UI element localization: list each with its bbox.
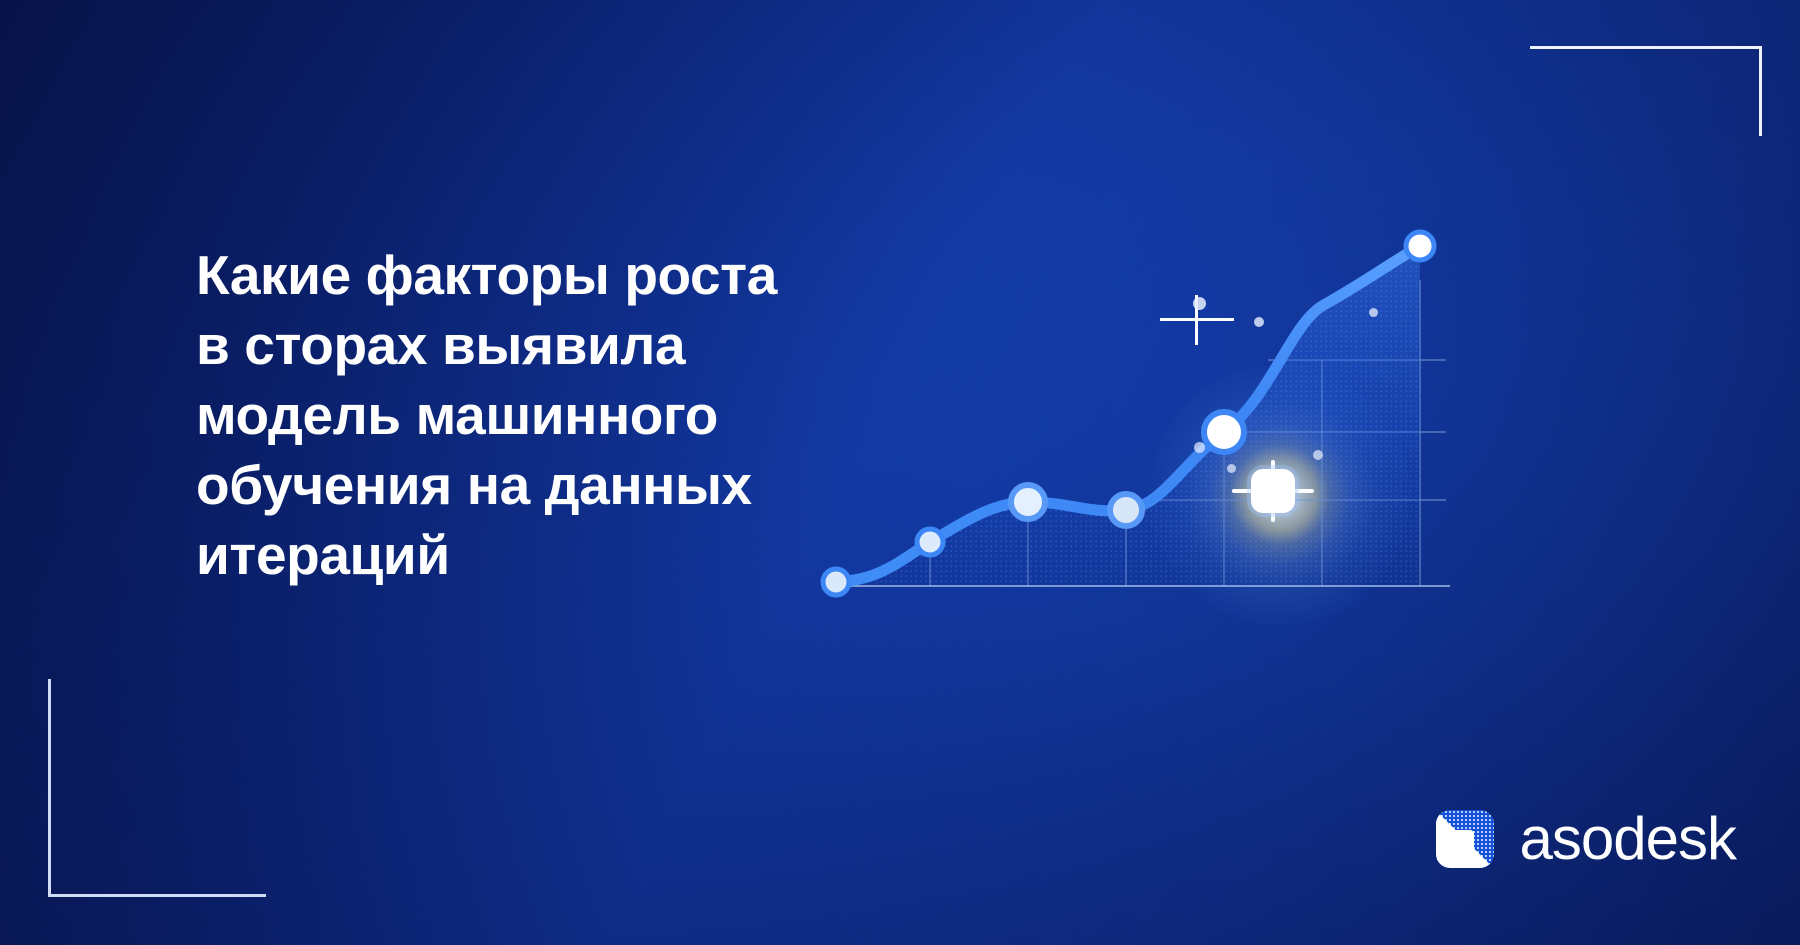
brand-name: asodesk xyxy=(1520,809,1736,869)
sparkle-dot xyxy=(1369,308,1378,317)
corner-bracket-bottom-left xyxy=(48,679,266,897)
asodesk-logo-mark-icon xyxy=(1436,810,1494,868)
data-point-1 xyxy=(823,569,849,595)
bracket-line-vertical xyxy=(48,679,51,897)
sparkle-dot xyxy=(1194,442,1205,453)
sparkle-dot xyxy=(1193,297,1206,310)
data-point-5 xyxy=(1204,412,1244,452)
brand-logo[interactable]: asodesk xyxy=(1436,809,1736,869)
chart-canvas xyxy=(820,210,1520,630)
sparkle-dot xyxy=(1313,450,1323,460)
bracket-line-vertical xyxy=(1759,46,1762,136)
logo-inner-square xyxy=(1440,830,1474,864)
data-point-3 xyxy=(1011,485,1045,519)
highlight-square-marker[interactable] xyxy=(1242,460,1304,522)
promo-banner: Какие факторы роста в сторах выявила мод… xyxy=(0,0,1800,945)
sparkle-dot xyxy=(1254,317,1264,327)
sparkle-dot xyxy=(1227,464,1236,473)
data-point-4 xyxy=(1110,494,1142,526)
highlight-square xyxy=(1251,469,1295,513)
data-point-2 xyxy=(917,529,943,555)
data-point-7 xyxy=(1406,232,1434,260)
bracket-line-horizontal xyxy=(1530,46,1762,49)
bracket-line-horizontal xyxy=(48,894,266,897)
growth-line-chart xyxy=(820,210,1520,630)
corner-bracket-top-right xyxy=(1530,46,1762,136)
